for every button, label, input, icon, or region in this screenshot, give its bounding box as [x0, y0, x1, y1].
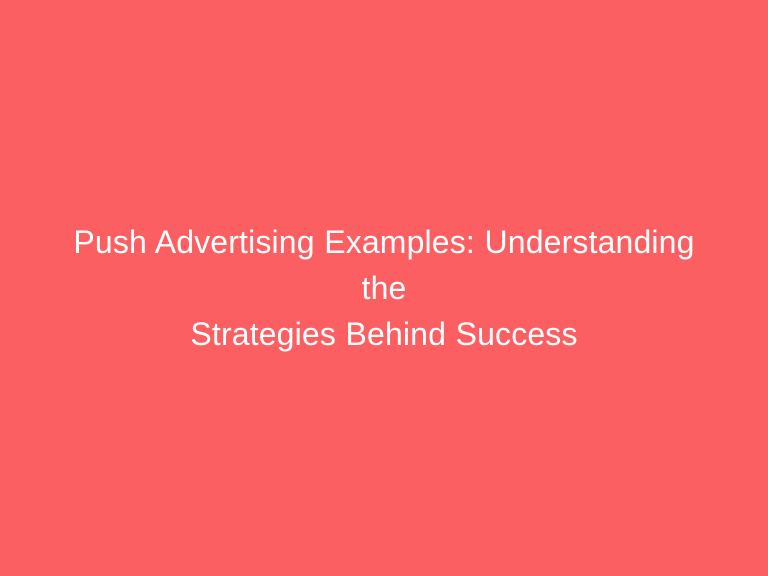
banner-canvas: Push Advertising Examples: Understanding…: [0, 0, 768, 576]
page-title-line-1: Push Advertising Examples: Understanding…: [48, 219, 720, 311]
page-title-line-2: Strategies Behind Success: [48, 311, 720, 357]
title-block: Push Advertising Examples: Understanding…: [34, 219, 734, 357]
page-title: Push Advertising Examples: Understanding…: [48, 219, 720, 357]
